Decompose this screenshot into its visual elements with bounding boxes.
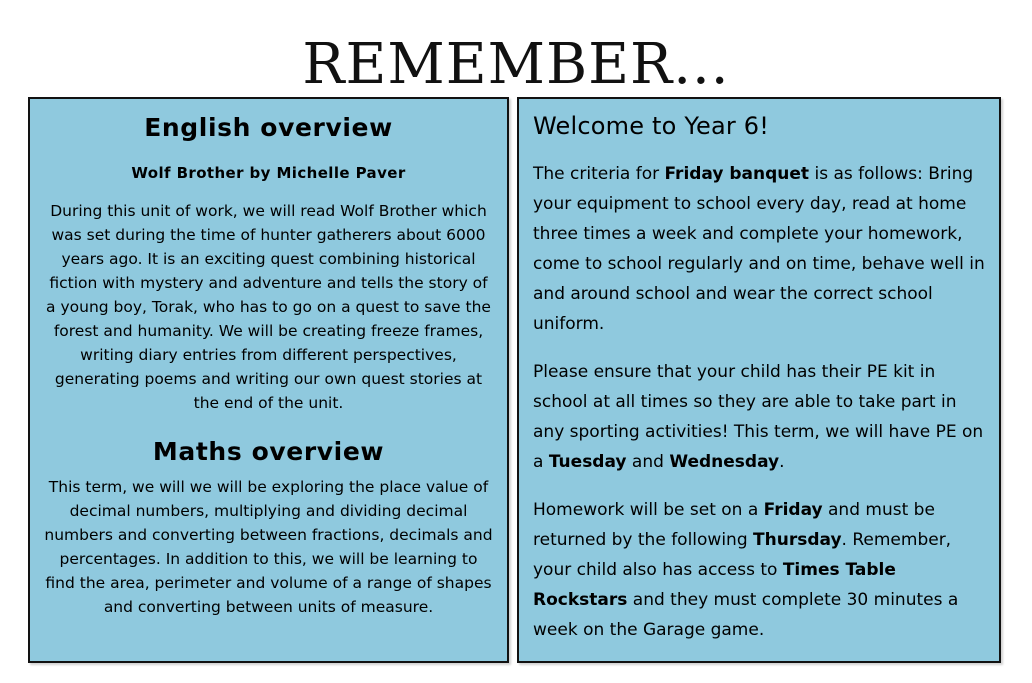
poster-canvas: REMEMBER... English overview Wolf Brothe… <box>0 0 1032 683</box>
english-book-subheading: Wolf Brother by Michelle Paver <box>40 163 497 183</box>
homework-paragraph: Homework will be set on a Friday and mus… <box>533 495 987 645</box>
friday-banquet-paragraph: The criteria for Friday banquet is as fo… <box>533 159 987 339</box>
paragraph-2-text-end: . <box>779 452 784 472</box>
paragraph-1-text-after-bold: is as follows: Bring your equipment to s… <box>533 164 985 334</box>
english-overview-panel: English overview Wolf Brother by Michell… <box>28 97 509 663</box>
paragraph-2-conjunction: and <box>627 452 670 472</box>
welcome-panel: Welcome to Year 6! The criteria for Frid… <box>517 97 1001 663</box>
maths-overview-heading: Maths overview <box>40 437 497 467</box>
english-overview-body: During this unit of work, we will read W… <box>44 199 493 415</box>
welcome-heading: Welcome to Year 6! <box>533 111 987 141</box>
wednesday-bold: Wednesday <box>669 452 779 472</box>
pe-kit-paragraph: Please ensure that your child has their … <box>533 357 987 477</box>
page-title: REMEMBER... <box>0 36 1032 94</box>
friday-banquet-bold: Friday banquet <box>665 164 810 184</box>
paragraph-1-text-before-bold: The criteria for <box>533 164 665 184</box>
friday-bold: Friday <box>764 500 823 520</box>
thursday-bold: Thursday <box>753 530 842 550</box>
maths-overview-body: This term, we will we will be exploring … <box>44 475 493 619</box>
paragraph-3-text-before-bold: Homework will be set on a <box>533 500 764 520</box>
tuesday-bold: Tuesday <box>549 452 627 472</box>
english-overview-heading: English overview <box>40 113 497 143</box>
